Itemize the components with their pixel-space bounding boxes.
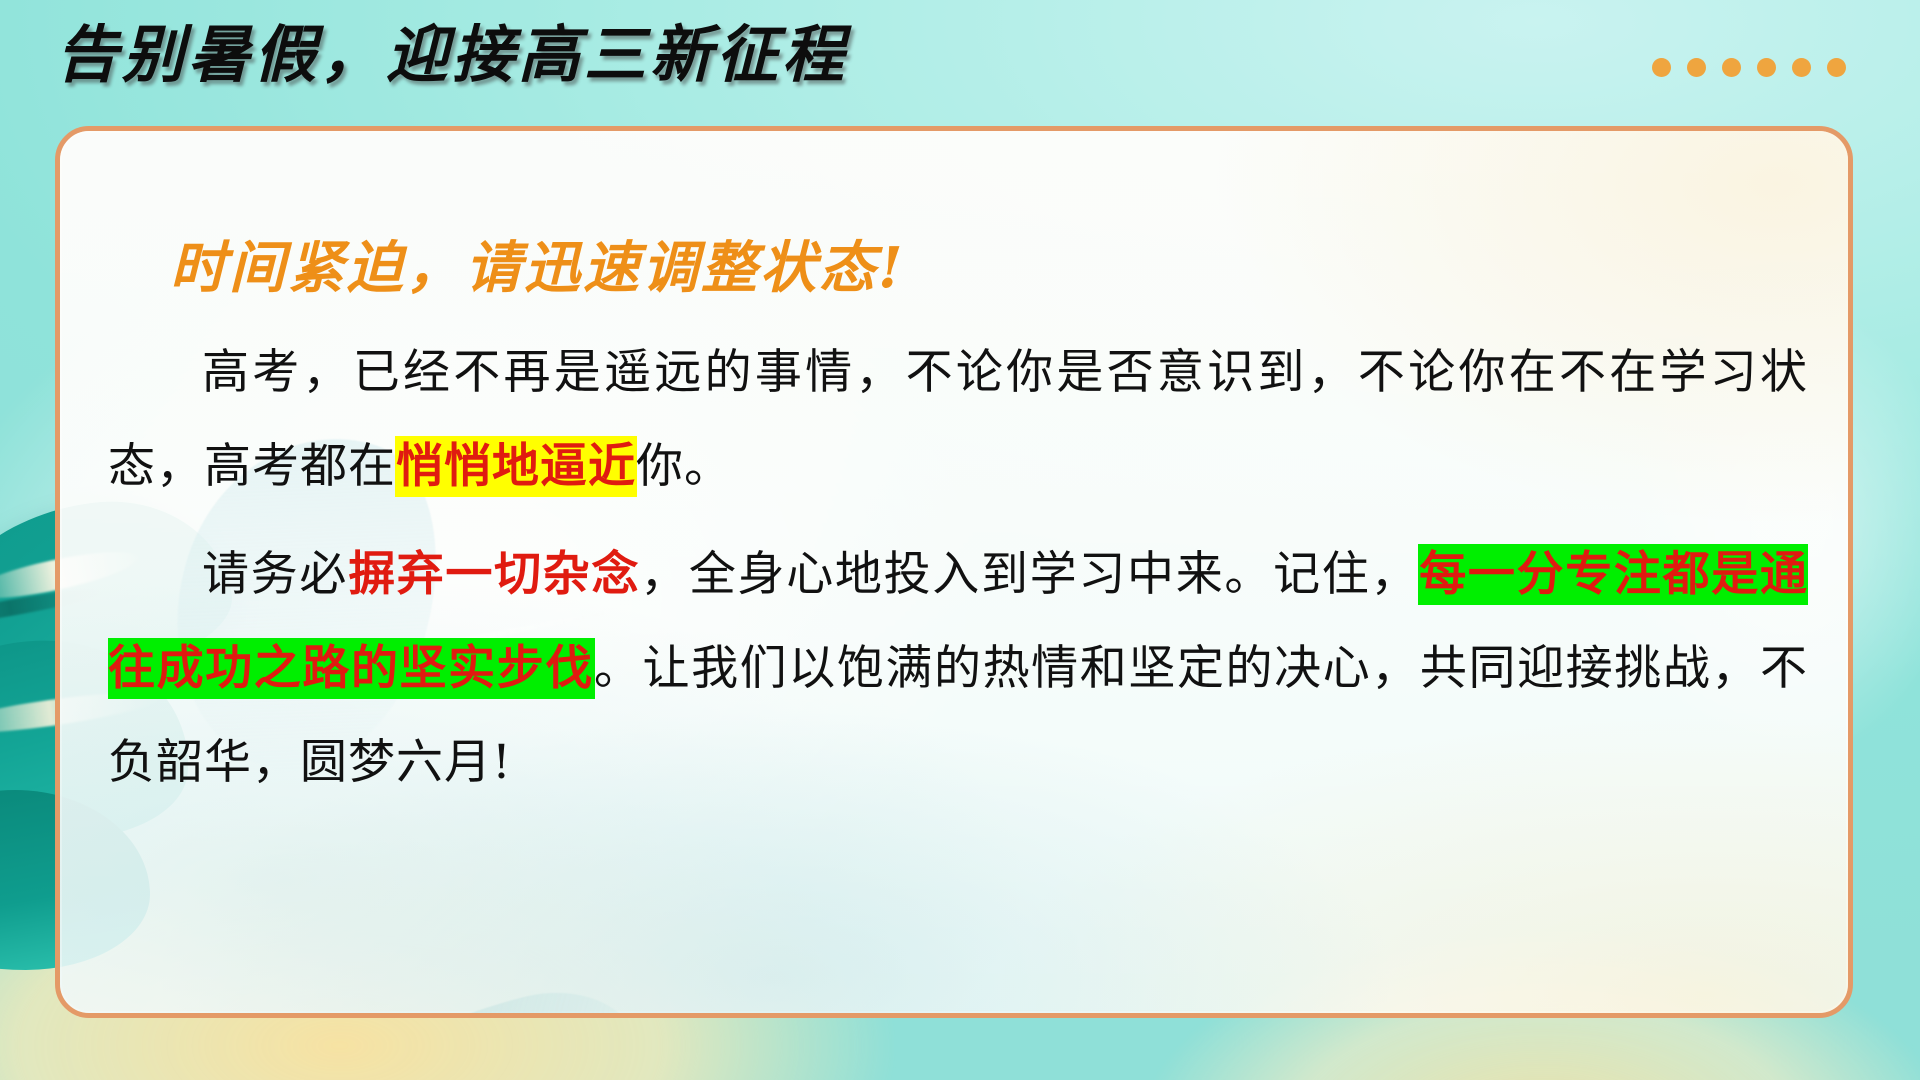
decorative-dots-group bbox=[1652, 58, 1846, 77]
title-bar: 告别暑假，迎接高三新征程 bbox=[0, 0, 1920, 120]
paragraph-2: 请务必摒弃一切杂念，全身心地投入到学习中来。记住，每一分专注都是通往成功之路的坚… bbox=[108, 528, 1808, 810]
content-card: 时间紧迫，请迅速调整状态! 高考，已经不再是遥远的事情，不论你是否意识到，不论你… bbox=[55, 126, 1853, 1018]
slide-canvas: 告别暑假，迎接高三新征程 时间紧迫，请迅速调整状态! 高考，已经不再是遥远的事情… bbox=[0, 0, 1920, 1080]
decorative-dot-icon bbox=[1757, 58, 1776, 77]
decorative-dot-icon bbox=[1652, 58, 1671, 77]
paragraph-1: 高考，已经不再是遥远的事情，不论你是否意识到，不论你在不在学习状态，高考都在悄悄… bbox=[108, 326, 1808, 514]
leaf-silhouette-icon bbox=[615, 1016, 925, 1018]
highlighted-text: 悄悄地逼近 bbox=[396, 437, 636, 496]
decorative-dot-icon bbox=[1722, 58, 1741, 77]
body-text: 高考，已经不再是遥远的事情，不论你是否意识到，不论你在不在学习状态，高考都在悄悄… bbox=[108, 326, 1808, 810]
decorative-dot-icon bbox=[1687, 58, 1706, 77]
emphasis-text: 摒弃一切杂念 bbox=[348, 547, 640, 602]
section-heading: 时间紧迫，请迅速调整状态! bbox=[170, 223, 906, 304]
card-content: 时间紧迫，请迅速调整状态! 高考，已经不再是遥远的事情，不论你是否意识到，不论你… bbox=[60, 131, 1848, 1013]
decorative-dot-icon bbox=[1792, 58, 1811, 77]
content-card-inner: 时间紧迫，请迅速调整状态! 高考，已经不再是遥远的事情，不论你是否意识到，不论你… bbox=[60, 131, 1848, 1013]
decorative-dot-icon bbox=[1827, 58, 1846, 77]
page-title: 告别暑假，迎接高三新征程 bbox=[56, 22, 848, 87]
